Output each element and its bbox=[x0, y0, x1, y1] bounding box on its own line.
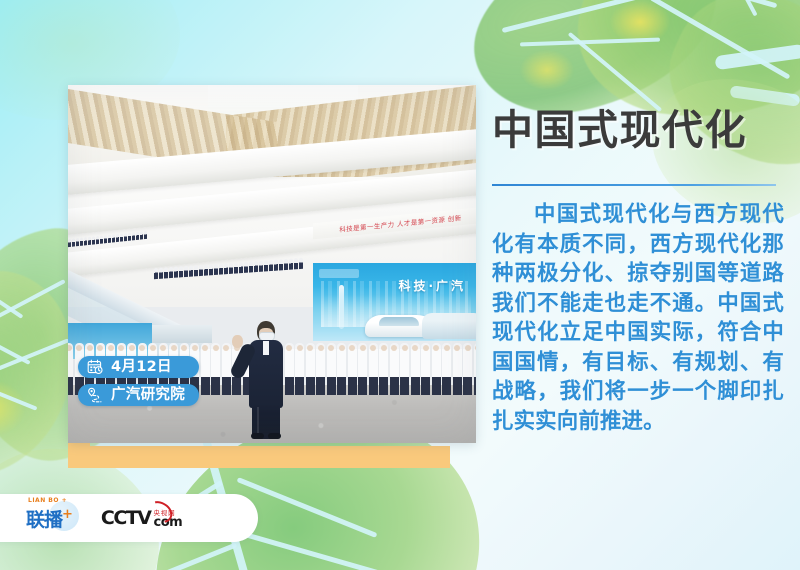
leaf-vein bbox=[568, 32, 662, 112]
leaf-slit bbox=[730, 85, 800, 107]
page-title: 中国式现代化 bbox=[492, 110, 782, 151]
leaf-vein bbox=[143, 542, 238, 570]
cctv-wordmark: CCTV bbox=[101, 507, 151, 529]
lianbo-wordmark: 联播 bbox=[26, 505, 62, 532]
footer-logo-bar: LIAN BO + 联播 + CCTV 央视网 com bbox=[0, 494, 258, 542]
leaf-vein bbox=[0, 319, 31, 365]
leaf-vein bbox=[245, 532, 391, 570]
leaf-vein bbox=[502, 0, 649, 33]
leaf-vein bbox=[0, 265, 23, 319]
leaf-vein bbox=[613, 0, 778, 8]
quote-paragraph: 中国式现代化与西方现代化有本质不同，西方现代化那种两极分化、掠夺别国等道路我们不… bbox=[492, 200, 784, 436]
leaf-vein bbox=[649, 0, 790, 80]
lianbo-plus-sign: + bbox=[62, 507, 73, 522]
leaf-vein bbox=[0, 373, 37, 410]
cctv-logo[interactable]: CCTV 央视网 com bbox=[101, 507, 182, 529]
leaf-vein bbox=[702, 0, 757, 17]
photo-meta-badges: 4月12日 广汽研究院 bbox=[78, 356, 199, 406]
leaf-vein bbox=[237, 477, 378, 538]
location-badge[interactable]: 广汽研究院 bbox=[78, 384, 199, 406]
lianbo-logo[interactable]: LIAN BO + 联播 + bbox=[26, 505, 73, 532]
leaf-vein bbox=[520, 38, 660, 47]
leaf-slit bbox=[714, 44, 800, 70]
leaf-vein bbox=[0, 279, 66, 325]
title-divider bbox=[492, 184, 776, 186]
leaf-shape bbox=[646, 0, 800, 194]
corner-bracket-horizontal bbox=[68, 446, 450, 468]
monstera-leaf-cluster-top-right bbox=[460, 0, 800, 190]
leaf-vein bbox=[0, 338, 69, 375]
calendar-icon bbox=[87, 359, 104, 375]
lianbo-pinyin: LIAN BO + bbox=[28, 497, 67, 504]
date-badge[interactable]: 4月12日 bbox=[78, 356, 199, 378]
location-pin-icon bbox=[87, 387, 104, 403]
leaf-highlight bbox=[610, 0, 670, 44]
location-badge-label: 广汽研究院 bbox=[111, 388, 185, 403]
poster-canvas: 科技是第一生产力 人才是第一资源 创新 科技·广汽 bbox=[0, 0, 800, 570]
date-badge-label: 4月12日 bbox=[111, 360, 172, 375]
leaf-highlight bbox=[520, 50, 574, 90]
leaf-highlight bbox=[0, 380, 25, 436]
